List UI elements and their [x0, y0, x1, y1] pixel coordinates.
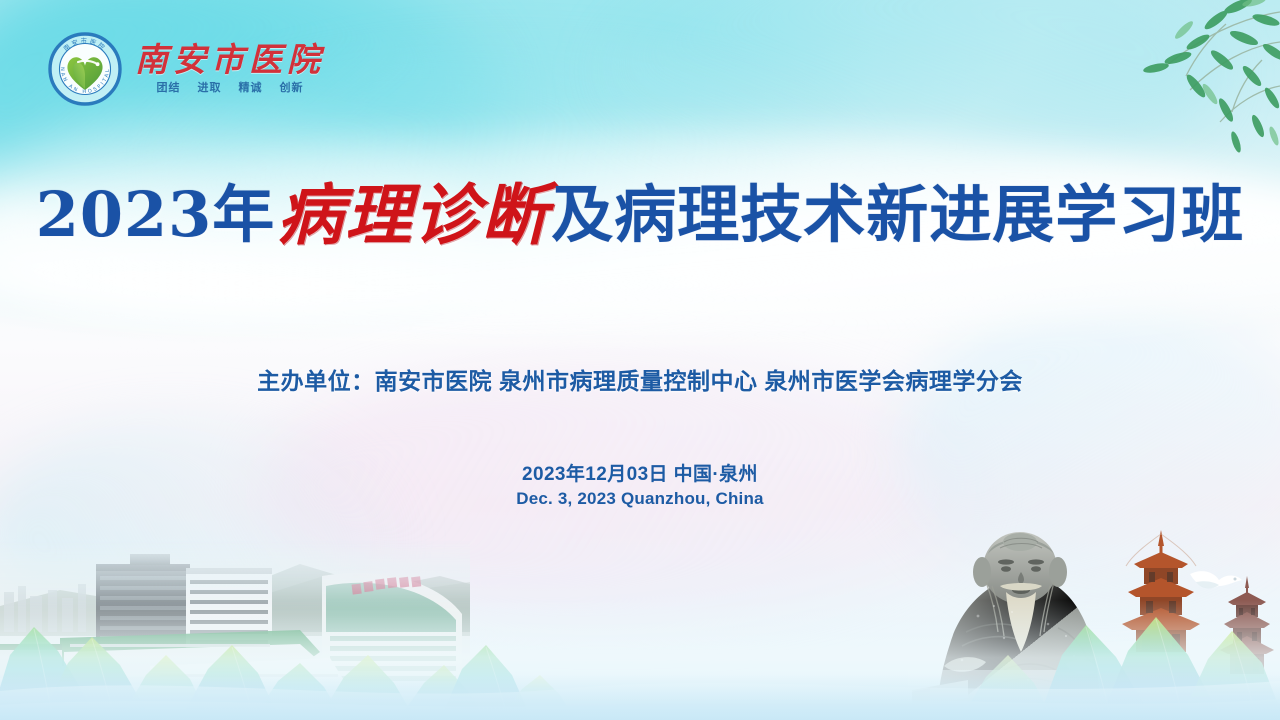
motto-word-3: 精诚	[239, 79, 263, 95]
bamboo-branch-icon	[1030, 0, 1280, 154]
date-english: Dec. 3, 2023 Quanzhou, China	[0, 488, 1280, 511]
motto-word-2: 进取	[198, 79, 222, 95]
title-tail: 及病理技术新进展学习班	[551, 178, 1244, 251]
date-chinese: 2023年12月03日 中国·泉州	[0, 462, 1280, 488]
hospital-name: 南安市医院	[135, 43, 325, 78]
title-lead: 2023年	[36, 178, 276, 251]
hospital-emblem-icon: 南安市医院 NAN AN HOSPITAL	[48, 32, 122, 106]
conference-banner: 南安市医院 NAN AN HOSPITAL 南安市医院 团结 进取 精诚 创新 …	[0, 0, 1280, 720]
title-highlight: 病理诊断	[277, 176, 549, 254]
hospital-motto: 团结 进取 精诚 创新	[157, 79, 304, 95]
motto-word-4: 创新	[280, 79, 304, 95]
organizers-line: 主办单位：南安市医院 泉州市病理质量控制中心 泉州市医学会病理学分会	[0, 362, 1280, 396]
motto-word-1: 团结	[157, 79, 181, 95]
date-location-block: 2023年12月03日 中国·泉州 Dec. 3, 2023 Quanzhou,…	[0, 462, 1280, 511]
event-title: 2023年病理诊断及病理技术新进展学习班	[0, 182, 1280, 248]
hospital-logo-block: 南安市医院 NAN AN HOSPITAL 南安市医院 团结 进取 精诚 创新	[48, 32, 325, 106]
